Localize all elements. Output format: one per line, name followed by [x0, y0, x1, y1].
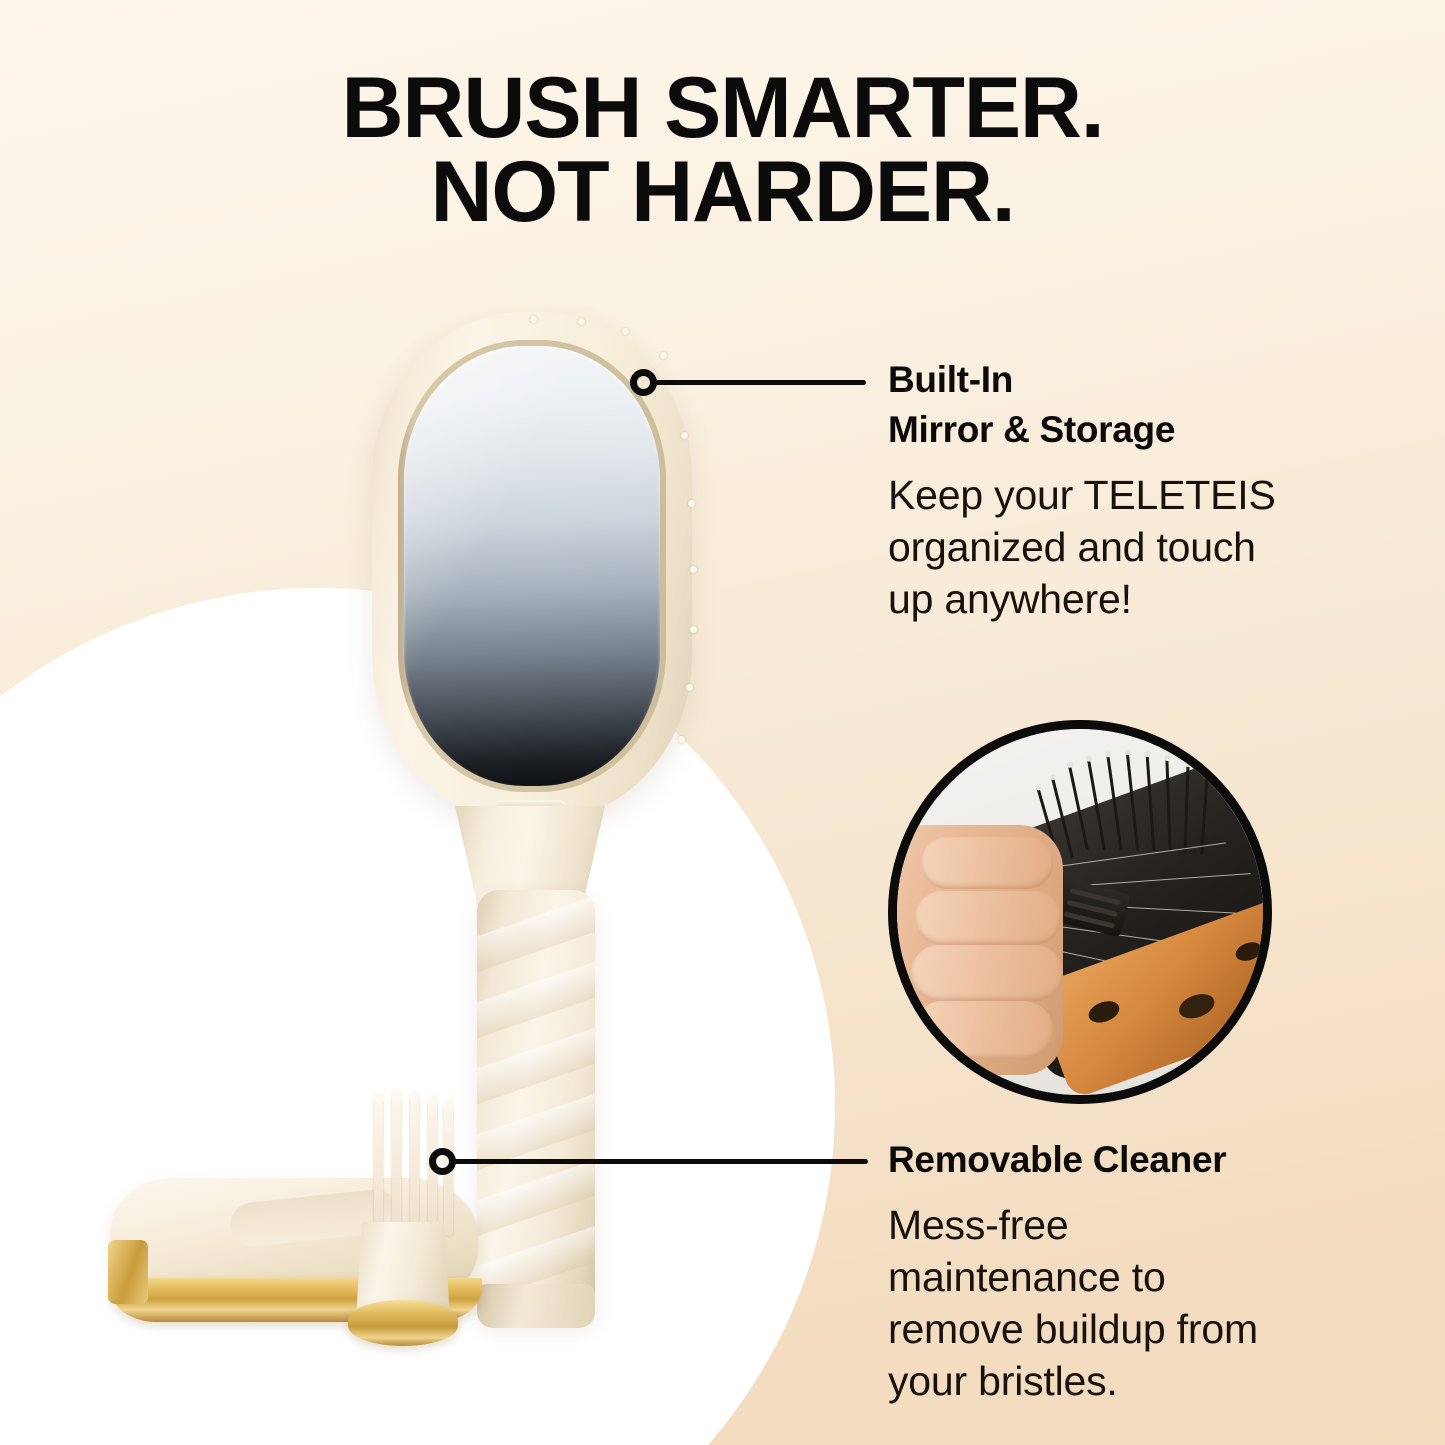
photo-content — [897, 729, 1263, 1095]
handle-tip — [477, 1284, 595, 1328]
bristle-nub-icon — [686, 684, 693, 691]
cleaner-prong — [410, 1096, 419, 1236]
bristle-nub-icon — [690, 626, 697, 633]
callout-title-line-1: Built-In — [888, 359, 1013, 400]
callout-title-line-1: Removable Cleaner — [888, 1139, 1226, 1180]
leader-line-mirror — [654, 380, 866, 385]
mirror-surface — [404, 346, 660, 786]
twisted-handle — [477, 890, 595, 1322]
callout-marker-cleaner — [429, 1148, 456, 1175]
leader-line-cleaner — [453, 1159, 868, 1164]
cleaner-prong — [374, 1098, 383, 1236]
callout-built-in-mirror-storage: Built-In Mirror & Storage Keep your TELE… — [888, 355, 1308, 625]
bristle-nub-icon — [622, 328, 629, 335]
bristle-nub-icon — [578, 318, 585, 325]
bristle-nub-icon — [688, 500, 695, 507]
cleaner-prong — [392, 1094, 401, 1236]
photo-finger — [911, 945, 1063, 1001]
compact-case-hinge — [108, 1240, 148, 1304]
photo-inset-cleaner-in-use — [888, 720, 1272, 1104]
photo-finger — [913, 1001, 1053, 1059]
callout-body: Mess-free maintenance to remove buildup … — [888, 1199, 1308, 1407]
photo-finger — [915, 891, 1061, 945]
callout-removable-cleaner: Removable Cleaner Mess-free maintenance … — [888, 1135, 1308, 1407]
callout-title: Built-In Mirror & Storage — [888, 355, 1308, 455]
callout-title: Removable Cleaner — [888, 1135, 1308, 1185]
callout-body: Keep your TELETEIS organized and touch u… — [888, 469, 1308, 625]
callout-title-line-2: Mirror & Storage — [888, 409, 1175, 450]
bristle-nub-icon — [678, 736, 685, 743]
cleaner-tool-gold-ring — [348, 1300, 458, 1346]
infographic-canvas: BRUSH SMARTER. NOT HARDER. — [0, 0, 1445, 1445]
bristle-nub-icon — [690, 566, 697, 573]
bristle-nub-icon — [681, 432, 688, 439]
photo-finger — [921, 837, 1053, 889]
callout-marker-mirror — [630, 369, 657, 396]
bristle-nub-icon — [530, 316, 537, 323]
bristle-nub-icon — [660, 352, 667, 359]
